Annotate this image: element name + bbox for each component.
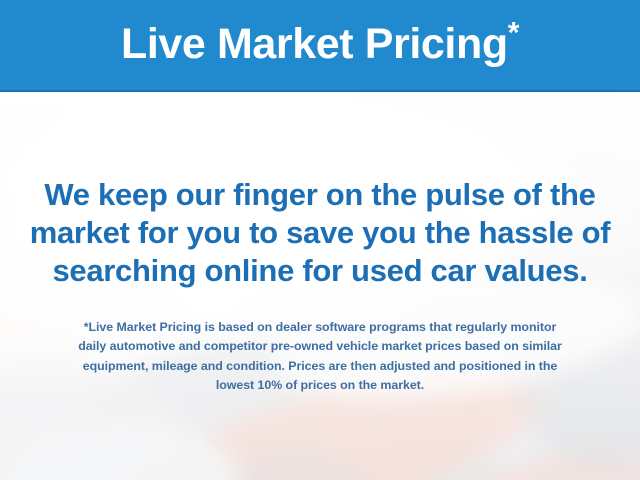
page-title: Live Market Pricing*	[121, 23, 519, 66]
headline-line: searching online for used car values.	[0, 252, 640, 290]
headline-block: We keep our finger on the pulse of the m…	[0, 176, 640, 290]
disclaimer-block: *Live Market Pricing is based on dealer …	[0, 318, 640, 396]
header-banner: Live Market Pricing*	[0, 0, 640, 92]
disclaimer-line: daily automotive and competitor pre-owne…	[0, 337, 640, 356]
headline-line: We keep our finger on the pulse of the	[0, 176, 640, 214]
disclaimer-line: *Live Market Pricing is based on dealer …	[0, 318, 640, 337]
headline-line: market for you to save you the hassle of	[0, 214, 640, 252]
page-title-asterisk: *	[508, 16, 519, 49]
disclaimer-line: lowest 10% of prices on the market.	[0, 376, 640, 395]
page-title-text: Live Market Pricing	[121, 20, 508, 68]
disclaimer-line: equipment, mileage and condition. Prices…	[0, 357, 640, 376]
live-market-pricing-promo: Live Market Pricing* We keep our finger …	[0, 0, 640, 480]
